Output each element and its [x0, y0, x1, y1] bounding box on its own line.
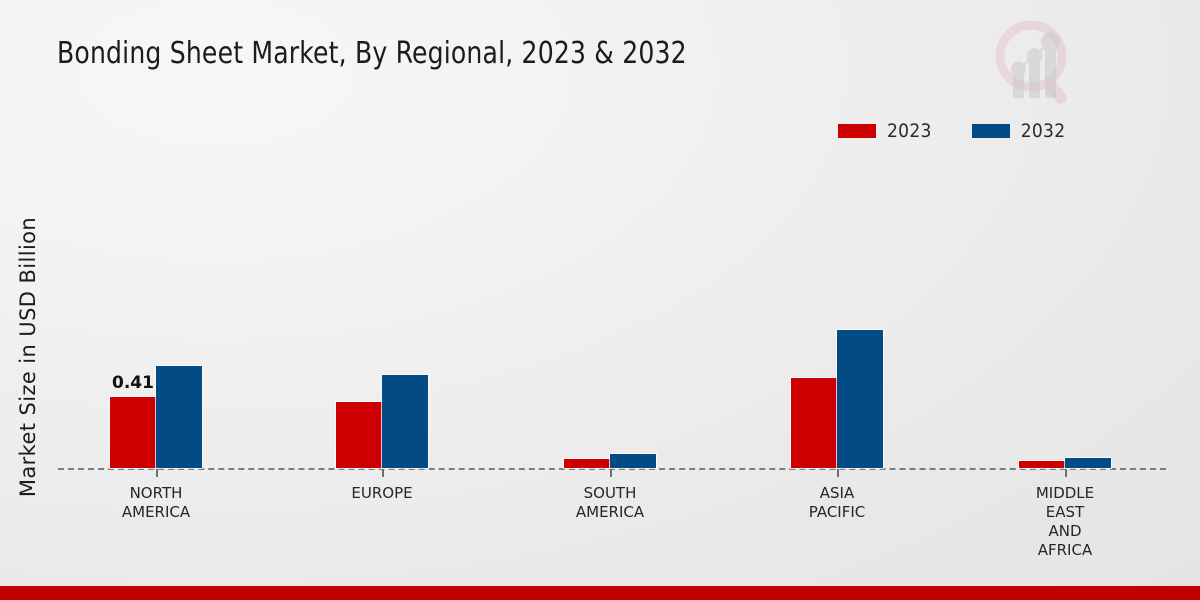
x-axis-label-middle-east-and-africa: MIDDLEEASTANDAFRICA	[1036, 484, 1094, 560]
bar-north-america-2023[interactable]: 0.41	[110, 397, 156, 468]
x-axis-tick-middle-east-and-africa	[1065, 469, 1067, 477]
x-axis-label-line: NORTH	[122, 484, 190, 503]
bar-middle-east-and-africa-2032[interactable]	[1065, 458, 1111, 468]
bar-asia-pacific-2032[interactable]	[837, 330, 883, 468]
x-axis-label-europe: EUROPE	[351, 484, 412, 503]
x-axis-label-line: MIDDLE	[1036, 484, 1094, 503]
x-axis-label-line: AFRICA	[1036, 541, 1094, 560]
x-axis-label-line: AMERICA	[576, 503, 644, 522]
bar-north-america-2032[interactable]	[156, 366, 202, 468]
bar-value-label-north-america-2023: 0.41	[112, 373, 154, 393]
bar-middle-east-and-africa-2023[interactable]	[1019, 461, 1065, 468]
x-axis-tick-europe	[382, 469, 384, 477]
bars-europe	[336, 375, 428, 468]
x-axis-label-line: PACIFIC	[809, 503, 866, 522]
bar-south-america-2032[interactable]	[610, 454, 656, 468]
x-axis-label-line: EAST	[1036, 503, 1094, 522]
x-axis-label-line: EUROPE	[351, 484, 412, 503]
x-axis-label-line: SOUTH	[576, 484, 644, 503]
x-axis-tick-north-america	[156, 469, 158, 477]
x-axis-label-line: AND	[1036, 522, 1094, 541]
footer-accent-bar	[0, 586, 1200, 600]
bars-south-america	[564, 454, 656, 468]
x-axis-label-line: AMERICA	[122, 503, 190, 522]
chart-page: Bonding Sheet Market, By Regional, 2023 …	[0, 0, 1200, 600]
bars-north-america: 0.41	[110, 366, 202, 468]
x-axis-tick-asia-pacific	[837, 469, 839, 477]
bar-europe-2023[interactable]	[336, 402, 382, 468]
bar-asia-pacific-2023[interactable]	[791, 378, 837, 468]
bar-europe-2032[interactable]	[382, 375, 428, 468]
x-axis-baseline	[58, 468, 1166, 470]
x-axis-tick-south-america	[610, 469, 612, 477]
bar-south-america-2023[interactable]	[564, 459, 610, 468]
x-axis-label-asia-pacific: ASIAPACIFIC	[809, 484, 866, 522]
x-axis-label-line: ASIA	[809, 484, 866, 503]
x-axis-label-north-america: NORTHAMERICA	[122, 484, 190, 522]
bars-middle-east-and-africa	[1019, 458, 1111, 468]
plot-area: 0.41NORTHAMERICAEUROPESOUTHAMERICAASIAPA…	[0, 0, 1200, 600]
x-axis-label-south-america: SOUTHAMERICA	[576, 484, 644, 522]
bars-asia-pacific	[791, 330, 883, 468]
